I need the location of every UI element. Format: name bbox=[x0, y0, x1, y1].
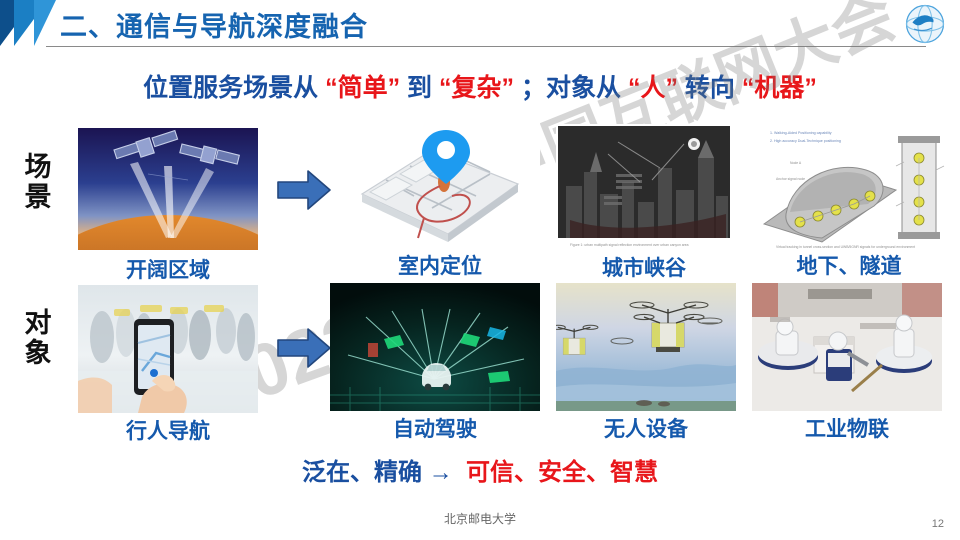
summary-red-text: 可信、安全、智慧 bbox=[466, 459, 658, 486]
svg-text:Node A: Node A bbox=[790, 161, 802, 165]
row-label-object-char-2: 象 bbox=[18, 338, 58, 368]
flow-arrow-row2 bbox=[276, 326, 332, 370]
object-caption-industrial: 工业物联 bbox=[752, 413, 942, 443]
drone-fleet-image bbox=[556, 283, 736, 411]
bupt-globe-logo-icon bbox=[904, 3, 946, 45]
svg-text:1. Walking-Aided Positioning c: 1. Walking-Aided Positioning capability bbox=[770, 131, 832, 135]
scene-caption-urban-canyon: 城市峡谷 bbox=[556, 252, 732, 282]
object-cell-autonomous: 自动驾驶 bbox=[330, 283, 540, 441]
scene-caption-open-area: 开阔区域 bbox=[78, 254, 258, 284]
footer-page-number: 12 bbox=[932, 518, 944, 530]
row-label-scene-char-2: 景 bbox=[18, 182, 58, 212]
object-cell-drone: 无人设备 bbox=[556, 283, 736, 441]
scene-cell-indoor: 室内定位 bbox=[340, 122, 540, 278]
subtitle-seg-4: “复杂” bbox=[439, 74, 514, 102]
subtitle-seg-5: ；对象从 bbox=[521, 74, 621, 102]
object-caption-pedestrian: 行人导航 bbox=[78, 415, 258, 445]
pedestrian-phone-map-image bbox=[78, 285, 258, 413]
subtitle-seg-6: “人” bbox=[628, 74, 678, 102]
scene-caption-tunnel: 地下、隧道 bbox=[746, 250, 952, 280]
footer-organization: 北京邮电大学 bbox=[0, 510, 960, 527]
row-label-scene-char-1: 场 bbox=[18, 152, 58, 182]
object-cell-pedestrian: 行人导航 bbox=[78, 285, 258, 440]
scene-cell-open-area: 开阔区域 bbox=[78, 128, 258, 278]
flow-arrow-row1 bbox=[276, 168, 332, 212]
scene-cell-tunnel: 1. Walking-Aided Positioning capability … bbox=[746, 118, 952, 278]
slide-canvas: 二、通信与导航深度融合 位置服务场景从 “简单” 到 “复杂” ；对象从 “人”… bbox=[0, 0, 960, 540]
summary-line: 泛在、精确 → 可信、安全、智慧 bbox=[0, 452, 960, 487]
svg-text:2. High accuracy Dual-Techniqu: 2. High accuracy Dual-Technique position… bbox=[770, 139, 841, 143]
subtitle-seg-7: 转向 bbox=[685, 74, 735, 102]
subtitle-seg-8: “机器” bbox=[742, 74, 817, 102]
slide-subtitle: 位置服务场景从 “简单” 到 “复杂” ；对象从 “人” 转向 “机器” bbox=[0, 68, 960, 104]
scene-cell-urban-canyon: Figure 1: urban multipath signal reflect… bbox=[556, 124, 732, 278]
industrial-robots-image bbox=[752, 283, 942, 411]
tunnel-diagram-image: 1. Walking-Aided Positioning capability … bbox=[746, 118, 952, 252]
satellites-over-earth-image bbox=[78, 128, 258, 250]
subtitle-seg-2: “简单” bbox=[325, 74, 400, 102]
subtitle-seg-1: 位置服务场景从 bbox=[143, 74, 318, 102]
page-title: 二、通信与导航深度融合 bbox=[60, 5, 368, 44]
object-cell-industrial: 工业物联 bbox=[752, 283, 942, 441]
svg-text:Anchor signal node: Anchor signal node bbox=[776, 177, 805, 181]
summary-blue-text: 泛在、精确 bbox=[302, 459, 422, 486]
autonomous-driving-image bbox=[330, 283, 540, 411]
row-label-scene: 场 景 bbox=[18, 152, 58, 212]
object-caption-autonomous: 自动驾驶 bbox=[330, 413, 540, 443]
urban-canyon-skyline-image: Figure 1: urban multipath signal reflect… bbox=[556, 124, 732, 252]
header-triangle-light-icon bbox=[34, 0, 56, 46]
summary-arrow-icon: → bbox=[429, 459, 453, 486]
header-divider bbox=[46, 46, 926, 47]
object-caption-drone: 无人设备 bbox=[556, 413, 736, 443]
indoor-floorplan-pin-image bbox=[340, 122, 540, 250]
slide-header: 二、通信与导航深度融合 bbox=[0, 0, 960, 52]
row-label-object-char-1: 对 bbox=[18, 308, 58, 338]
svg-text:Figure 1: urban multipath sign: Figure 1: urban multipath signal reflect… bbox=[570, 243, 689, 247]
scene-caption-indoor: 室内定位 bbox=[340, 250, 540, 280]
subtitle-seg-3: 到 bbox=[407, 74, 432, 102]
row-label-object: 对 象 bbox=[18, 308, 58, 368]
svg-text:Virtual tracking in tunnel cro: Virtual tracking in tunnel cross-section… bbox=[776, 245, 915, 249]
